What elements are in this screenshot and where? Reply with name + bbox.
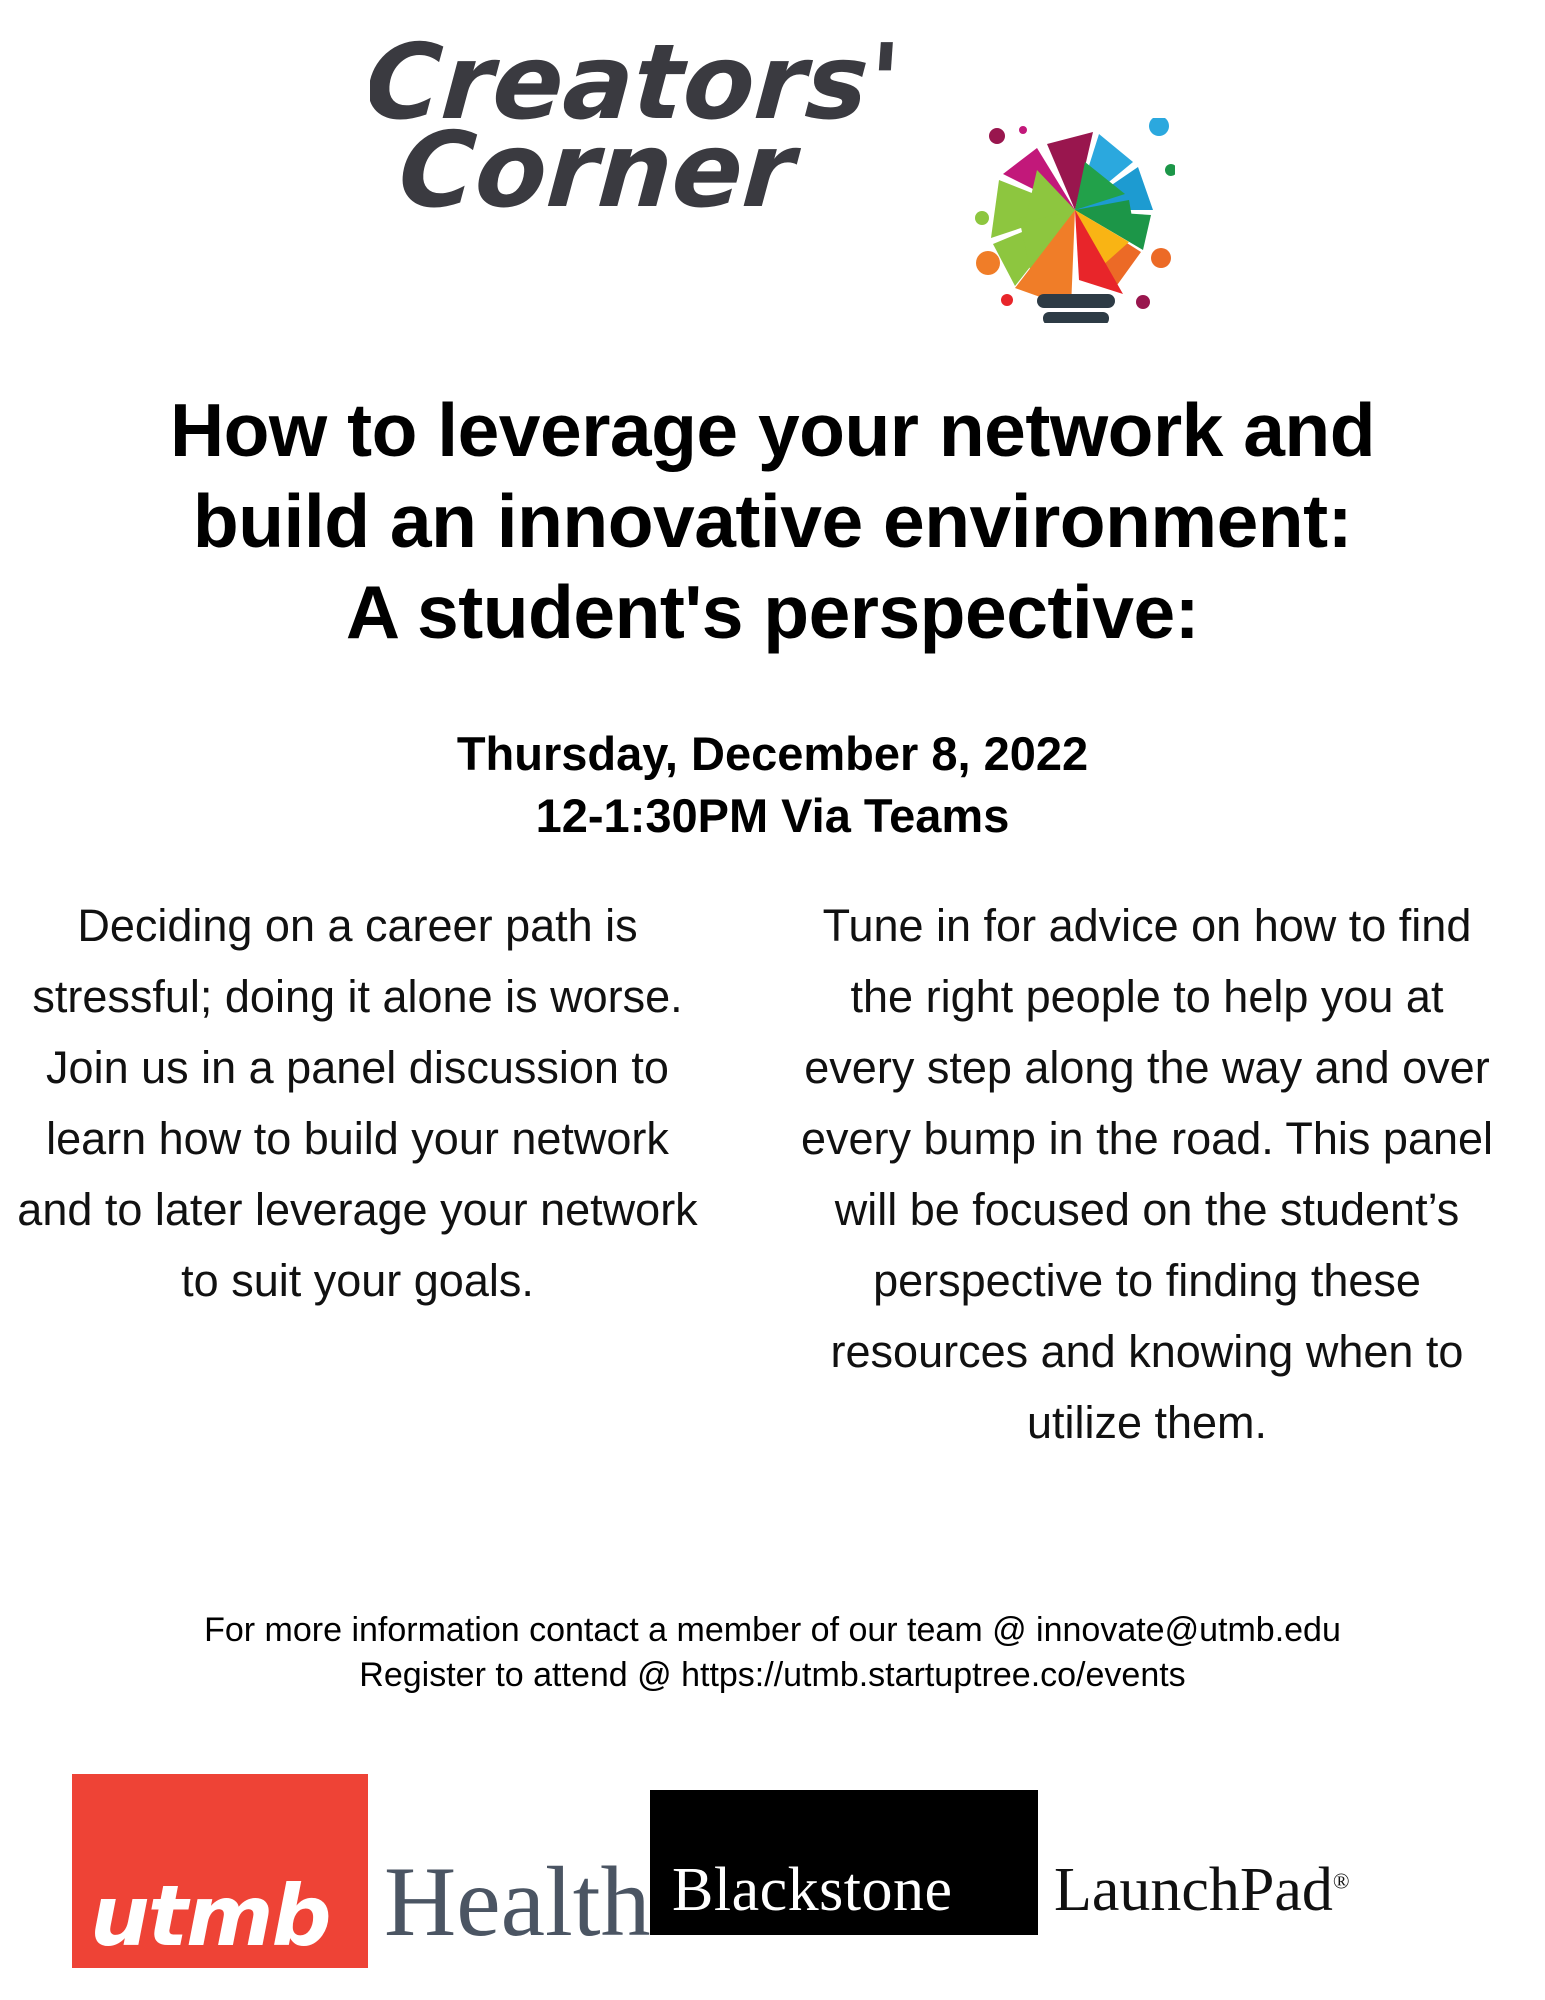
launchpad-wordmark-text: LaunchPad bbox=[1054, 1856, 1333, 1924]
svg-text:Corner: Corner bbox=[395, 109, 804, 228]
sponsor-logos: utmb Health Blackstone LaunchPad® bbox=[0, 1762, 1545, 2000]
lightbulb-icon bbox=[975, 118, 1175, 323]
blackstone-mark-text: Blackstone bbox=[672, 1859, 953, 1921]
utmb-mark: utmb bbox=[72, 1774, 368, 1968]
event-time-location: 12-1:30PM Via Teams bbox=[0, 785, 1545, 847]
launchpad-wordmark: LaunchPad® bbox=[1038, 1859, 1350, 1935]
blackstone-launchpad-logo: Blackstone LaunchPad® bbox=[650, 1790, 1350, 1935]
title-line-2: build an innovative environment: bbox=[0, 476, 1545, 567]
body-text: Deciding on a career path is stressful; … bbox=[0, 890, 1545, 1458]
flyer-page: Creators' Corner bbox=[0, 0, 1545, 2000]
register-link-line[interactable]: Register to attend @ https://utmb.startu… bbox=[0, 1653, 1545, 1698]
page-title: How to leverage your network and build a… bbox=[0, 385, 1545, 658]
creators-corner-logo: Creators' Corner bbox=[0, 8, 1545, 328]
contact-email-line: For more information contact a member of… bbox=[0, 1608, 1545, 1653]
contact-info: For more information contact a member of… bbox=[0, 1608, 1545, 1698]
registered-trademark-icon: ® bbox=[1333, 1868, 1350, 1893]
creators-corner-wordmark: Creators' Corner bbox=[370, 18, 1010, 228]
event-date: Thursday, December 8, 2022 bbox=[0, 723, 1545, 785]
utmb-mark-text: utmb bbox=[90, 1874, 330, 1958]
body-column-right: Tune in for advice on how to find the ri… bbox=[785, 890, 1515, 1458]
event-details: Thursday, December 8, 2022 12-1:30PM Via… bbox=[0, 723, 1545, 847]
title-line-3: A student's perspective: bbox=[0, 567, 1545, 658]
utmb-health-logo: utmb Health bbox=[72, 1774, 651, 1968]
utmb-health-wordmark: Health bbox=[368, 1852, 651, 1968]
blackstone-mark: Blackstone bbox=[650, 1790, 1038, 1935]
title-line-1: How to leverage your network and bbox=[0, 385, 1545, 476]
body-column-left: Deciding on a career path is stressful; … bbox=[0, 890, 715, 1316]
